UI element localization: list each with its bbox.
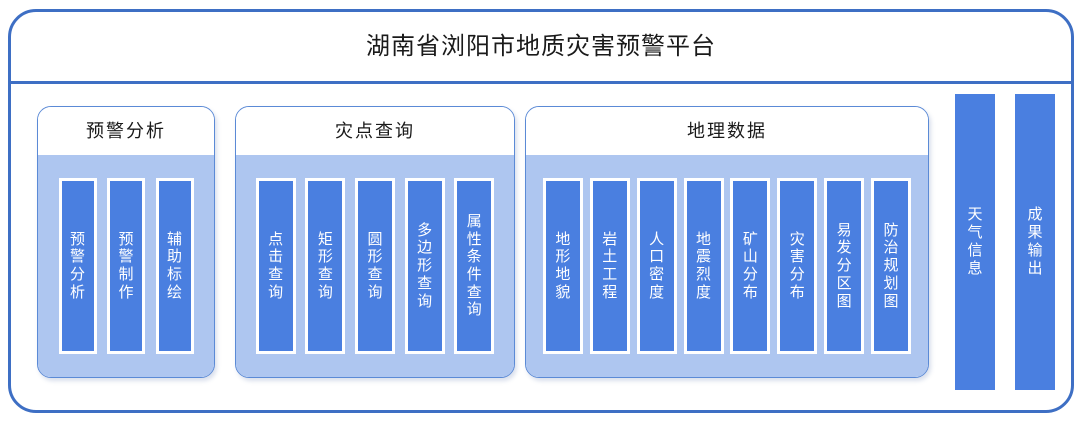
module-panel-warning-analysis[interactable]: 预警分析 预警分析 预警制作 辅助标绘 [37, 106, 215, 378]
module-item[interactable]: 易发分区图 [824, 178, 864, 354]
module-panel-disaster-point-query[interactable]: 灾点查询 点击查询 矩形查询 圆形查询 多边形查询 属性条件查询 [235, 106, 515, 378]
platform-frame: 湖南省浏阳市地质灾害预警平台 预警分析 预警分析 预警制作 辅助标绘 [8, 9, 1074, 413]
module-item[interactable]: 预警分析 [59, 178, 97, 354]
module-item[interactable]: 地震烈度 [684, 178, 724, 354]
module-item[interactable]: 防治规划图 [871, 178, 911, 354]
module-item-label: 预警制作 [119, 231, 134, 302]
module-item-label: 属性条件查询 [467, 213, 482, 319]
module-item-label: 预警分析 [70, 231, 85, 302]
module-item[interactable]: 点击查询 [256, 178, 296, 354]
module-title: 地理数据 [687, 122, 767, 140]
module-item-list: 地形地貌 岩土工程 人口密度 地震烈度 矿山分布 灾害分布 易发 [526, 155, 928, 377]
side-bar-label: 天气信息 [968, 206, 983, 278]
module-item-label: 矿山分布 [743, 231, 758, 302]
module-item[interactable]: 矩形查询 [305, 178, 345, 354]
module-item-label: 多边形查询 [417, 222, 432, 310]
module-item-label: 易发分区图 [837, 222, 852, 310]
side-bar-label: 成果输出 [1028, 206, 1043, 278]
module-item-list: 预警分析 预警制作 辅助标绘 [38, 155, 214, 377]
module-item-label: 辅助标绘 [167, 231, 182, 302]
module-item-label: 地形地貌 [555, 231, 570, 302]
side-bar-weather-info[interactable]: 天气信息 [955, 94, 995, 390]
module-header: 预警分析 [38, 107, 214, 155]
module-item-label: 防治规划图 [884, 222, 899, 310]
module-item[interactable]: 圆形查询 [355, 178, 395, 354]
module-item-label: 圆形查询 [367, 231, 382, 302]
module-item-label: 岩土工程 [602, 231, 617, 302]
module-item[interactable]: 灾害分布 [777, 178, 817, 354]
module-item-label: 地震烈度 [696, 231, 711, 302]
module-item[interactable]: 辅助标绘 [156, 178, 194, 354]
module-item-label: 点击查询 [268, 231, 283, 302]
page-title: 湖南省浏阳市地质灾害预警平台 [366, 35, 716, 59]
module-item[interactable]: 属性条件查询 [454, 178, 494, 354]
module-item[interactable]: 岩土工程 [590, 178, 630, 354]
module-item[interactable]: 多边形查询 [405, 178, 445, 354]
module-header: 灾点查询 [236, 107, 514, 155]
module-item[interactable]: 矿山分布 [730, 178, 770, 354]
module-item-list: 点击查询 矩形查询 圆形查询 多边形查询 属性条件查询 [236, 155, 514, 377]
title-bar: 湖南省浏阳市地质灾害预警平台 [11, 12, 1071, 84]
module-item-label: 灾害分布 [790, 231, 805, 302]
module-item[interactable]: 人口密度 [637, 178, 677, 354]
module-title: 灾点查询 [335, 122, 415, 140]
module-item[interactable]: 预警制作 [107, 178, 145, 354]
module-title: 预警分析 [86, 122, 166, 140]
frame-body: 预警分析 预警分析 预警制作 辅助标绘 灾点查询 点击查询 [11, 84, 1071, 410]
module-panel-geographic-data[interactable]: 地理数据 地形地貌 岩土工程 人口密度 地震烈度 矿山分布 [525, 106, 929, 378]
module-item-label: 人口密度 [649, 231, 664, 302]
module-item-label: 矩形查询 [318, 231, 333, 302]
module-item[interactable]: 地形地貌 [543, 178, 583, 354]
side-bar-result-output[interactable]: 成果输出 [1015, 94, 1055, 390]
module-header: 地理数据 [526, 107, 928, 155]
